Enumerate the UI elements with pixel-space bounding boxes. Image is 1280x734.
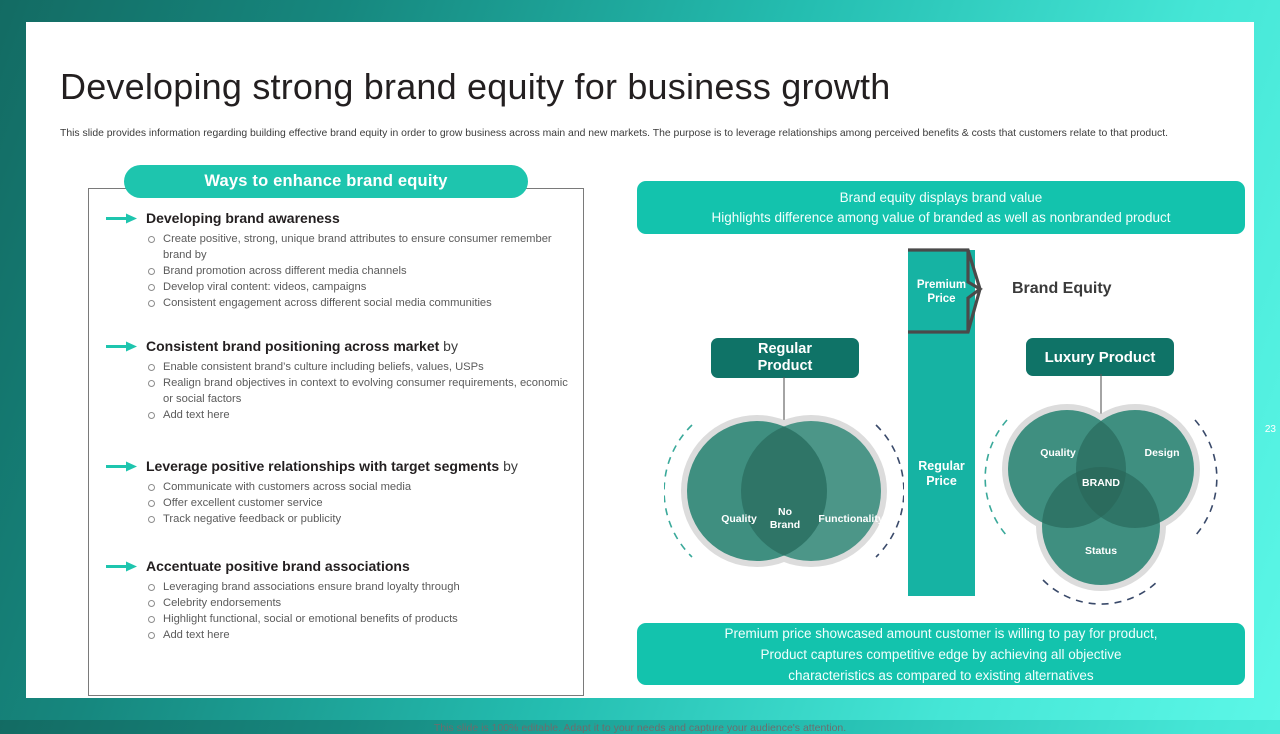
- section-heading-bold: Developing brand awareness: [146, 210, 340, 226]
- venn-regular-product: [664, 377, 904, 599]
- section-bullets: Create positive, strong, unique brand at…: [106, 231, 576, 311]
- arrow-right-icon: [106, 213, 138, 224]
- list-item: Enable consistent brand’s culture includ…: [146, 359, 576, 375]
- chip-regular-product: Regular Product: [711, 338, 859, 378]
- brand-equity-label: Brand Equity: [1012, 280, 1112, 298]
- premium-price-label: Premium Price: [908, 254, 975, 330]
- section-heading: Developing brand awareness: [106, 208, 576, 228]
- page-number: 23: [1265, 424, 1276, 435]
- slide-root: 23 Developing strong brand equity for bu…: [0, 0, 1280, 720]
- chip-line1: Regular: [758, 341, 813, 358]
- section-heading-bold: Consistent brand positioning across mark…: [146, 338, 439, 354]
- banner-line: Highlights difference among value of bra…: [711, 208, 1170, 228]
- regular-price-label: Regular Price: [908, 450, 975, 498]
- banner-premium-price-note: Premium price showcased amount customer …: [637, 623, 1245, 685]
- chip-luxury-product: Luxury Product: [1026, 338, 1174, 376]
- regular-price-line1: Regular: [918, 459, 965, 474]
- list-item: Brand promotion across different media c…: [146, 263, 576, 279]
- section-consistent-brand-positioning: Consistent brand positioning across mark…: [106, 336, 576, 423]
- list-item: Realign brand objectives in context to e…: [146, 375, 576, 407]
- banner-brand-equity-definition: Brand equity displays brand value Highli…: [637, 181, 1245, 234]
- list-item: Add text here: [146, 627, 576, 643]
- spacer: [106, 530, 576, 556]
- list-item: Communicate with customers across social…: [146, 479, 576, 495]
- venn-luxury-product: [981, 374, 1221, 606]
- page-title: Developing strong brand equity for busin…: [60, 66, 1160, 108]
- ways-sections-list: Developing brand awareness Create positi…: [106, 208, 576, 646]
- list-item: Consistent engagement across different s…: [146, 295, 576, 311]
- section-developing-brand-awareness: Developing brand awareness Create positi…: [106, 208, 576, 311]
- banner-line: Product captures competitive edge by ach…: [761, 644, 1122, 665]
- banner-line: characteristics as compared to existing …: [788, 665, 1093, 686]
- section-heading-bold: Accentuate positive brand associations: [146, 558, 410, 574]
- list-item: Track negative feedback or publicity: [146, 511, 576, 527]
- section-heading: Leverage positive relationships with tar…: [106, 456, 576, 476]
- section-bullets: Enable consistent brand’s culture includ…: [106, 359, 576, 423]
- section-leverage-positive-relationships: Leverage positive relationships with tar…: [106, 456, 576, 527]
- footer-note: This slide is 100% editable. Adapt it to…: [26, 722, 1254, 734]
- section-heading-rest: by: [439, 338, 458, 354]
- list-item: Develop viral content: videos, campaigns: [146, 279, 576, 295]
- arrow-right-icon: [106, 341, 138, 352]
- spacer: [106, 314, 576, 336]
- arrow-right-icon: [106, 461, 138, 472]
- regular-price-line2: Price: [918, 474, 965, 489]
- list-item: Celebrity endorsements: [146, 595, 576, 611]
- list-item: Offer excellent customer service: [146, 495, 576, 511]
- section-heading: Consistent brand positioning across mark…: [106, 336, 576, 356]
- section-heading-bold: Leverage positive relationships with tar…: [146, 458, 499, 474]
- banner-line: Premium price showcased amount customer …: [725, 623, 1158, 644]
- banner-line: Brand equity displays brand value: [840, 188, 1043, 208]
- chip-line2: Product: [758, 358, 813, 375]
- premium-price-line2: Price: [917, 292, 966, 306]
- list-item: Create positive, strong, unique brand at…: [146, 231, 576, 263]
- section-bullets: Communicate with customers across social…: [106, 479, 576, 527]
- section-heading: Accentuate positive brand associations: [106, 556, 576, 576]
- list-item: Add text here: [146, 407, 576, 423]
- arrow-right-icon: [106, 561, 138, 572]
- list-item: Leveraging brand associations ensure bra…: [146, 579, 576, 595]
- premium-price-line1: Premium: [917, 278, 966, 292]
- slide-canvas: Developing strong brand equity for busin…: [26, 22, 1254, 698]
- spacer: [106, 426, 576, 456]
- ways-panel-title: Ways to enhance brand equity: [124, 165, 528, 198]
- list-item: Highlight functional, social or emotiona…: [146, 611, 576, 627]
- section-accentuate-brand-associations: Accentuate positive brand associations L…: [106, 556, 576, 643]
- section-bullets: Leveraging brand associations ensure bra…: [106, 579, 576, 643]
- section-heading-rest: by: [499, 458, 518, 474]
- page-subtitle: This slide provides information regardin…: [60, 126, 1256, 141]
